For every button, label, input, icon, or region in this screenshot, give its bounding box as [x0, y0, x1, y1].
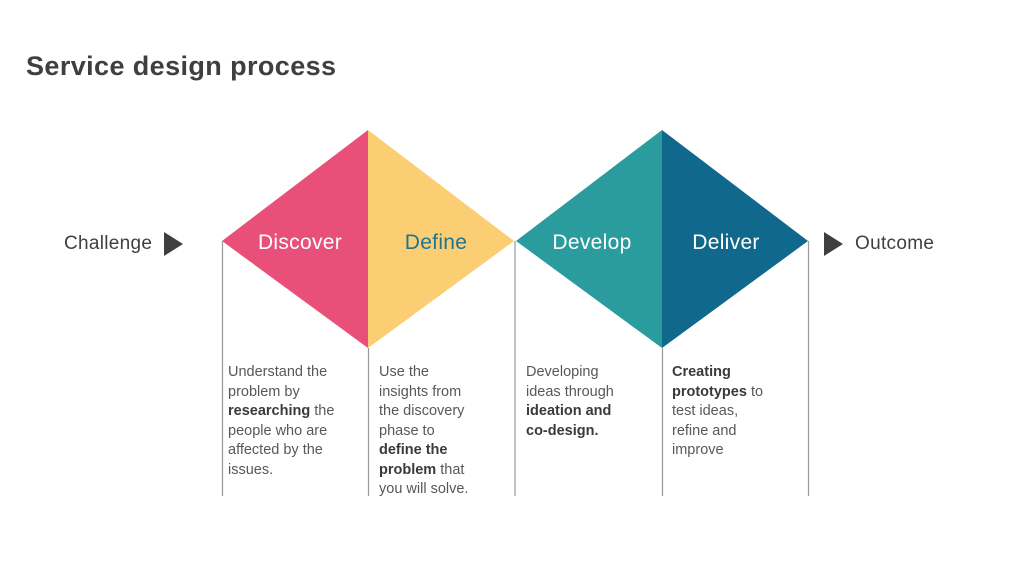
description-deliver: Creating prototypes to test ideas, refin… — [672, 363, 778, 461]
description-discover: Understand the problem by researching th… — [228, 363, 336, 480]
slide-canvas: Service design process Discover Define D… — [0, 0, 1024, 576]
phase-label-develop: Develop — [528, 228, 656, 258]
outcome-label: Outcome — [855, 233, 934, 255]
outcome-group: Outcome — [824, 230, 934, 258]
triangle-right-icon — [824, 232, 843, 256]
description-develop: Developing ideas through ideation and co… — [526, 363, 634, 441]
phase-label-define: Define — [372, 228, 500, 258]
challenge-label: Challenge — [64, 233, 152, 255]
description-define: Use the insights from the discovery phas… — [379, 363, 481, 500]
phase-label-discover: Discover — [236, 228, 364, 258]
triangle-right-icon — [164, 232, 183, 256]
phase-label-deliver: Deliver — [662, 228, 790, 258]
page-title: Service design process — [26, 51, 336, 82]
double-diamond-graphic — [0, 0, 1024, 576]
double-diamond-svg — [0, 0, 1024, 576]
challenge-group: Challenge — [64, 230, 183, 258]
